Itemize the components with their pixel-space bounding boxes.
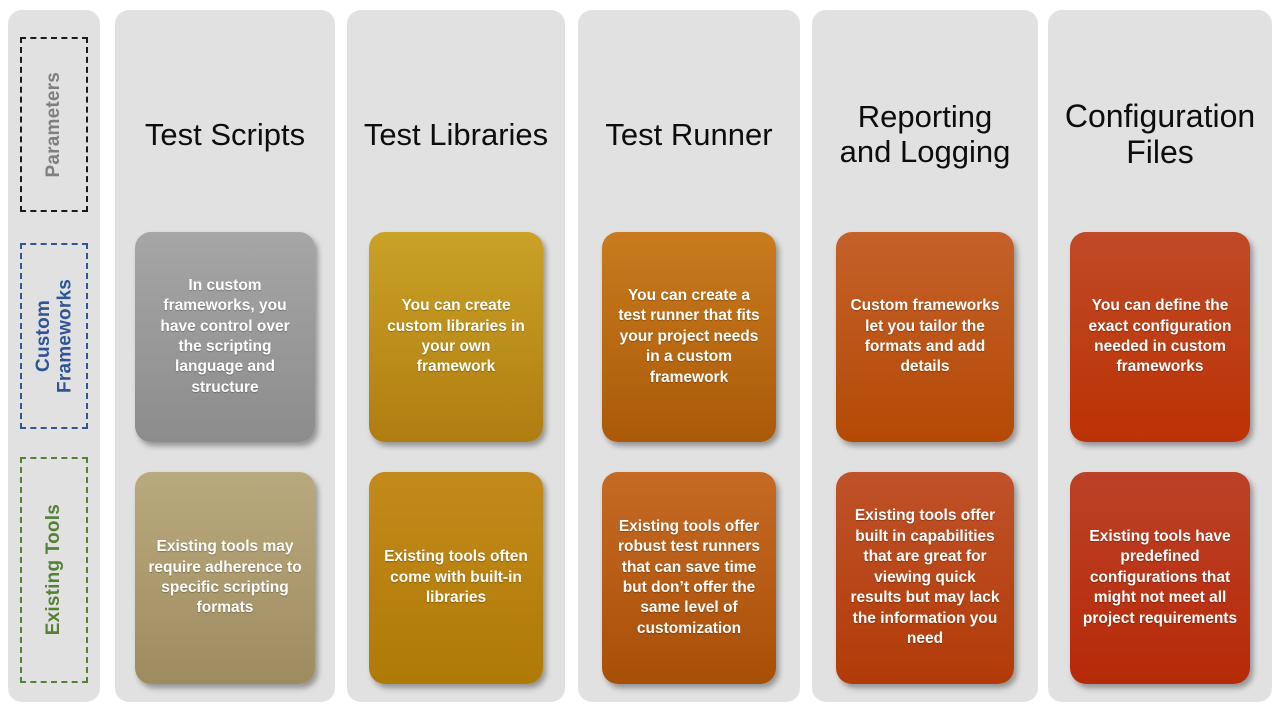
category-column-configuration-files: Configuration Files You can define the e…: [1048, 10, 1272, 702]
card-custom-configuration-files[interactable]: You can define the exact configuration n…: [1070, 232, 1250, 442]
category-column-reporting-and-logging: Reporting and Logging Custom frameworks …: [812, 10, 1038, 702]
card-text: Existing tools offer built in capabiliti…: [848, 506, 1002, 649]
column-header-test-libraries: Test Libraries: [355, 70, 557, 200]
card-custom-reporting-and-logging[interactable]: Custom frameworks let you tailor the for…: [836, 232, 1014, 442]
card-existing-test-scripts[interactable]: Existing tools may require adherence to …: [135, 472, 315, 684]
parameter-label-custom-frameworks: Custom Frameworks: [33, 279, 76, 393]
card-text: Existing tools often come with built-in …: [381, 547, 531, 608]
card-text: Existing tools offer robust test runners…: [614, 517, 764, 640]
card-text: You can create custom libraries in your …: [381, 296, 531, 378]
card-existing-test-libraries[interactable]: Existing tools often come with built-in …: [369, 472, 543, 684]
column-header-test-runner: Test Runner: [586, 70, 792, 200]
parameter-label-parameters: Parameters: [43, 72, 64, 178]
card-text: Existing tools may require adherence to …: [147, 537, 303, 619]
card-text: You can create a test runner that fits y…: [614, 286, 764, 388]
card-text: Custom frameworks let you tailor the for…: [848, 296, 1002, 378]
parameter-cell-parameters: Parameters: [20, 37, 88, 212]
card-custom-test-libraries[interactable]: You can create custom libraries in your …: [369, 232, 543, 442]
category-column-test-scripts: Test Scripts In custom frameworks, you h…: [115, 10, 335, 702]
card-existing-test-runner[interactable]: Existing tools offer robust test runners…: [602, 472, 776, 684]
column-header-test-scripts: Test Scripts: [123, 70, 327, 200]
comparison-matrix: Parameters Custom Frameworks Existing To…: [0, 0, 1280, 720]
column-header-reporting-and-logging: Reporting and Logging: [820, 70, 1030, 200]
card-existing-configuration-files[interactable]: Existing tools have predefined configura…: [1070, 472, 1250, 684]
column-header-configuration-files: Configuration Files: [1056, 70, 1264, 200]
parameter-label-existing-tools: Existing Tools: [43, 504, 64, 635]
parameter-cell-custom-frameworks: Custom Frameworks: [20, 243, 88, 429]
parameters-rail: Parameters Custom Frameworks Existing To…: [8, 10, 100, 702]
parameter-cell-existing-tools: Existing Tools: [20, 457, 88, 683]
card-custom-test-runner[interactable]: You can create a test runner that fits y…: [602, 232, 776, 442]
category-column-test-runner: Test Runner You can create a test runner…: [578, 10, 800, 702]
card-text: You can define the exact configuration n…: [1082, 296, 1238, 378]
card-existing-reporting-and-logging[interactable]: Existing tools offer built in capabiliti…: [836, 472, 1014, 684]
card-custom-test-scripts[interactable]: In custom frameworks, you have control o…: [135, 232, 315, 442]
card-text: In custom frameworks, you have control o…: [147, 276, 303, 399]
card-text: Existing tools have predefined configura…: [1082, 527, 1238, 629]
category-column-test-libraries: Test Libraries You can create custom lib…: [347, 10, 565, 702]
